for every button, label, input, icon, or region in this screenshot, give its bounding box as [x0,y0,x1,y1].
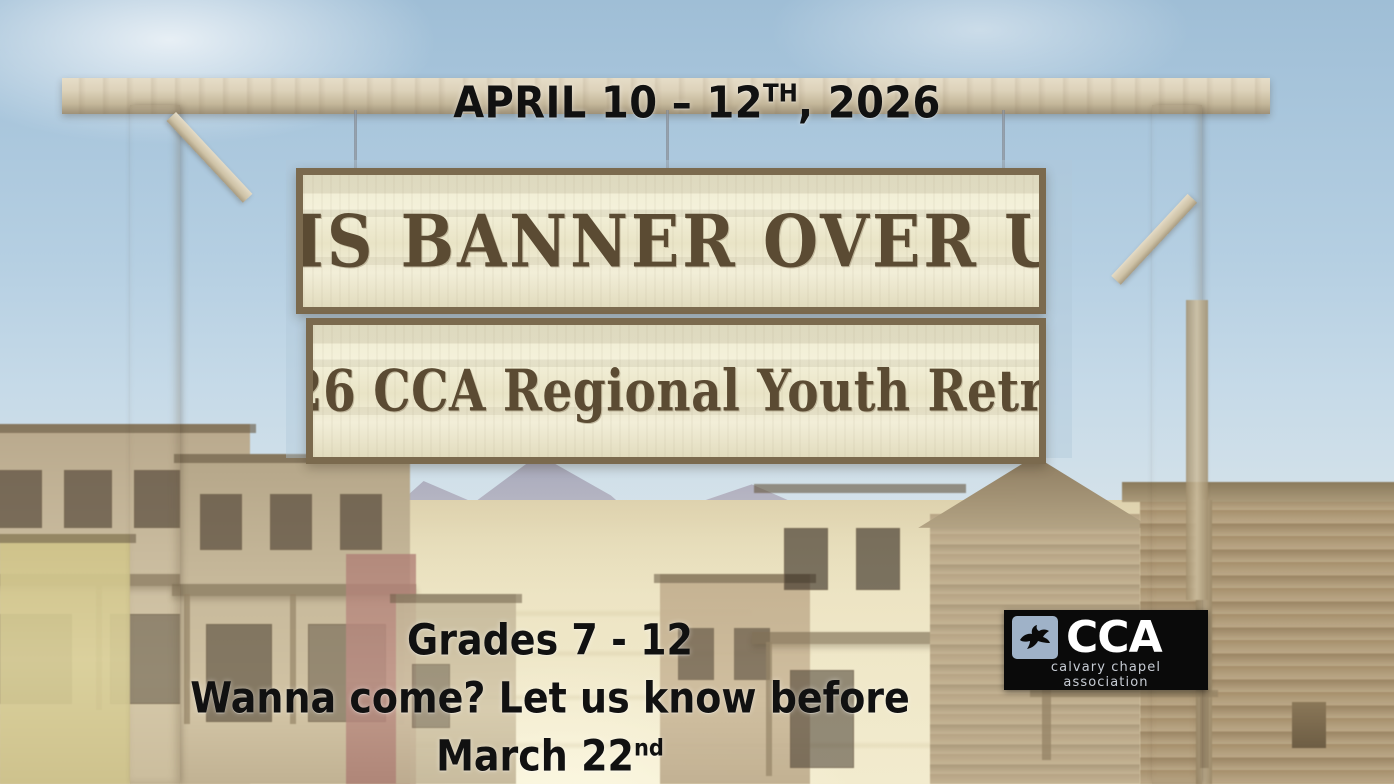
building-window [270,494,312,550]
cca-logo: CCA calvary chapel association [1004,610,1208,690]
building-window [856,528,900,590]
background-utility-post [1186,300,1208,600]
grades-line: Grades 7 - 12 [0,615,1100,664]
building-roofline [390,594,522,603]
building-window [64,470,112,528]
event-date-prefix: APRIL 10 – 12 [453,78,763,129]
event-date-suffix: , 2026 [798,78,941,129]
cca-tagline: calvary chapel association [1012,660,1200,690]
retreat-promo-poster: HIS BANNER OVER US 2026 CCA Regional You… [0,0,1394,784]
building-roofline [0,534,136,543]
cca-logo-top-row: CCA [1012,616,1200,659]
building-window [784,528,828,590]
building-window [200,494,242,550]
sign-headline-text: HIS BANNER OVER US [296,199,1046,284]
deadline-line: March 22nd [0,731,1100,780]
sign-subline-text: 2026 CCA Regional Youth Retreat [306,357,1046,424]
event-date-ordinal: TH [763,80,798,109]
deadline-ordinal: nd [634,734,664,761]
building-roofline [754,484,966,493]
sign-board-subline: 2026 CCA Regional Youth Retreat [306,318,1046,464]
sign-board-headline: HIS BANNER OVER US [296,168,1046,314]
deadline-date: March 22 [436,731,634,780]
building-window [0,470,42,528]
invite-line: Wanna come? Let us know before [0,673,1100,722]
building-window [340,494,382,550]
building-roofline [0,424,256,433]
event-date-line: APRIL 10 – 12TH, 2026 [0,78,1394,129]
dove-icon [1012,616,1058,659]
barn-crate [1292,702,1326,748]
cca-acronym: CCA [1066,617,1162,659]
